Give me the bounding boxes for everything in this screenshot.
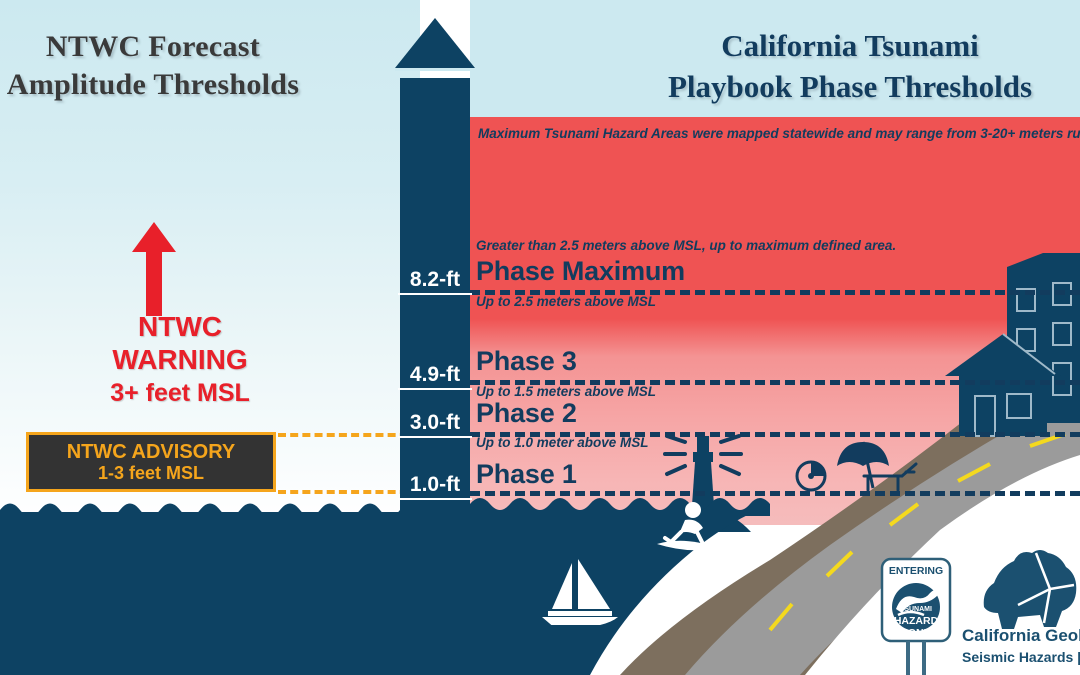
left-panel: NTWC Forecast Amplitude Thresholds NTWC …: [0, 0, 420, 520]
sign-line2: TSUNAMI: [900, 606, 932, 613]
right-title-line2: Playbook Phase Thresholds: [600, 67, 1080, 108]
house-icon: [945, 330, 1065, 440]
left-panel-title: NTWC Forecast Amplitude Thresholds: [0, 28, 348, 105]
elevation-label-8-2ft: 8.2-ft: [398, 268, 472, 295]
infographic-canvas: NTWC Forecast Amplitude Thresholds NTWC …: [0, 0, 1080, 675]
ntwc-warning-line3: 3+ feet MSL: [20, 379, 340, 409]
elevation-label-4-9ft: 4.9-ft: [398, 363, 472, 390]
ntwc-advisory-line1: NTWC ADVISORY: [67, 441, 236, 463]
cgs-title: California Geological Survey: [962, 626, 1080, 646]
tower-cap-arrow: [395, 18, 475, 74]
ntwc-advisory-box: NTWC ADVISORY 1-3 feet MSL: [26, 432, 276, 492]
threshold-phase-1: Phase 3: [476, 346, 577, 377]
threshold-line-1-0ft: [470, 491, 1080, 496]
beach-ball-icon: [795, 460, 827, 492]
up-arrow-icon: [132, 222, 176, 316]
threshold-below-text-1: Up to 1.5 meters above MSL: [476, 384, 656, 399]
sign-line4: ZONE: [901, 627, 930, 639]
sign-line3: HAZARD: [894, 615, 939, 627]
ntwc-warning-line1: NTWC: [20, 310, 340, 343]
threshold-phase-2: Phase 2: [476, 398, 577, 429]
threshold-phase-0: Phase Maximum: [476, 256, 685, 287]
ntwc-warning-line2: WARNING: [20, 343, 340, 376]
bottom-navy-band: All Elevations Relative to Mean-Sea Leve…: [0, 512, 420, 675]
surfer-icon: [655, 500, 725, 558]
right-title-line1: California Tsunami: [600, 26, 1080, 67]
elevation-label-1-0ft: 1.0-ft: [398, 473, 472, 500]
left-title-line2: Amplitude Thresholds: [0, 66, 348, 104]
threshold-phase-3: Phase 1: [476, 459, 577, 490]
threshold-below-text-0: Up to 2.5 meters above MSL: [476, 294, 656, 309]
cgs-subtitle: Seismic Hazards | Tsunami: [962, 649, 1080, 665]
threshold-below-text-2: Up to 1.0 meter above MSL: [476, 435, 649, 450]
sign-line1: ENTERING: [889, 565, 943, 577]
sailboat-icon: [538, 555, 620, 625]
ntwc-advisory-line2: 1-3 feet MSL: [98, 463, 204, 483]
ntwc-warning-text: NTWC WARNING 3+ feet MSL: [20, 310, 340, 409]
elevation-label-3-0ft: 3.0-ft: [398, 411, 472, 438]
right-panel-title: California Tsunami Playbook Phase Thresh…: [600, 26, 1080, 108]
threshold-above-text-0: Greater than 2.5 meters above MSL, up to…: [476, 238, 896, 253]
left-title-line1: NTWC Forecast: [0, 28, 348, 66]
california-bear-icon: [978, 545, 1080, 635]
tsunami-hazard-zone-sign: ENTERING TSUNAMI HAZARD ZONE: [880, 557, 952, 675]
